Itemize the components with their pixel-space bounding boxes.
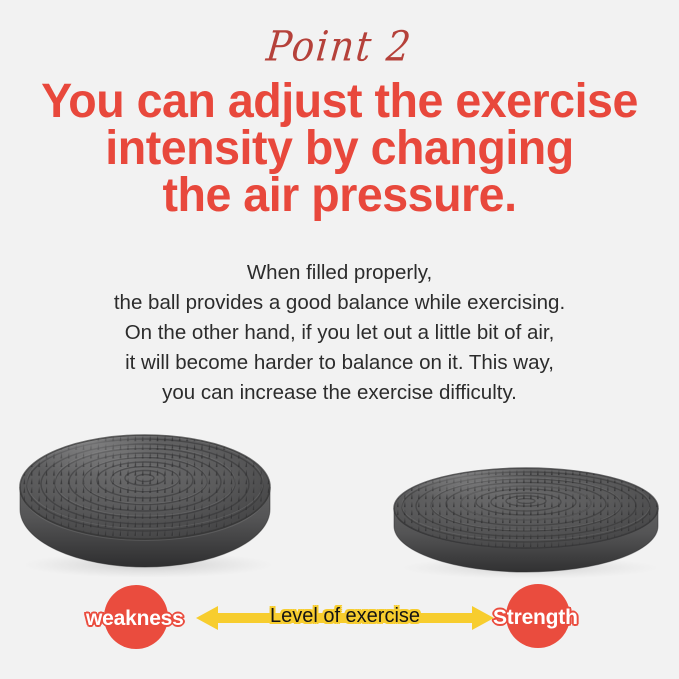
strength-label: Strength — [493, 607, 578, 628]
body-line-3: On the other hand, if you let out a litt… — [0, 318, 679, 348]
weakness-label: weakness — [86, 608, 184, 629]
page-title: You can adjust the exercise intensity by… — [0, 78, 679, 219]
body-line-4: it will become harder to balance on it. … — [0, 348, 679, 378]
balance-disc-deflated-image — [388, 460, 664, 582]
body-line-5: you can increase the exercise difficulty… — [0, 378, 679, 408]
body-paragraph: When filled properly, the ball provides … — [0, 258, 679, 408]
balance-disc-inflated-image — [14, 425, 276, 577]
body-line-2: the ball provides a good balance while e… — [0, 288, 679, 318]
level-of-exercise-label: Level of exercise — [247, 606, 443, 626]
headline-line-3: the air pressure. — [10, 172, 669, 219]
headline-line-2: intensity by changing — [10, 125, 669, 172]
headline-line-1: You can adjust the exercise — [10, 78, 669, 125]
point-eyebrow: Point 2 — [0, 26, 679, 67]
body-line-1: When filled properly, — [0, 258, 679, 288]
infographic-canvas: Point 2 You can adjust the exercise inte… — [0, 0, 679, 679]
